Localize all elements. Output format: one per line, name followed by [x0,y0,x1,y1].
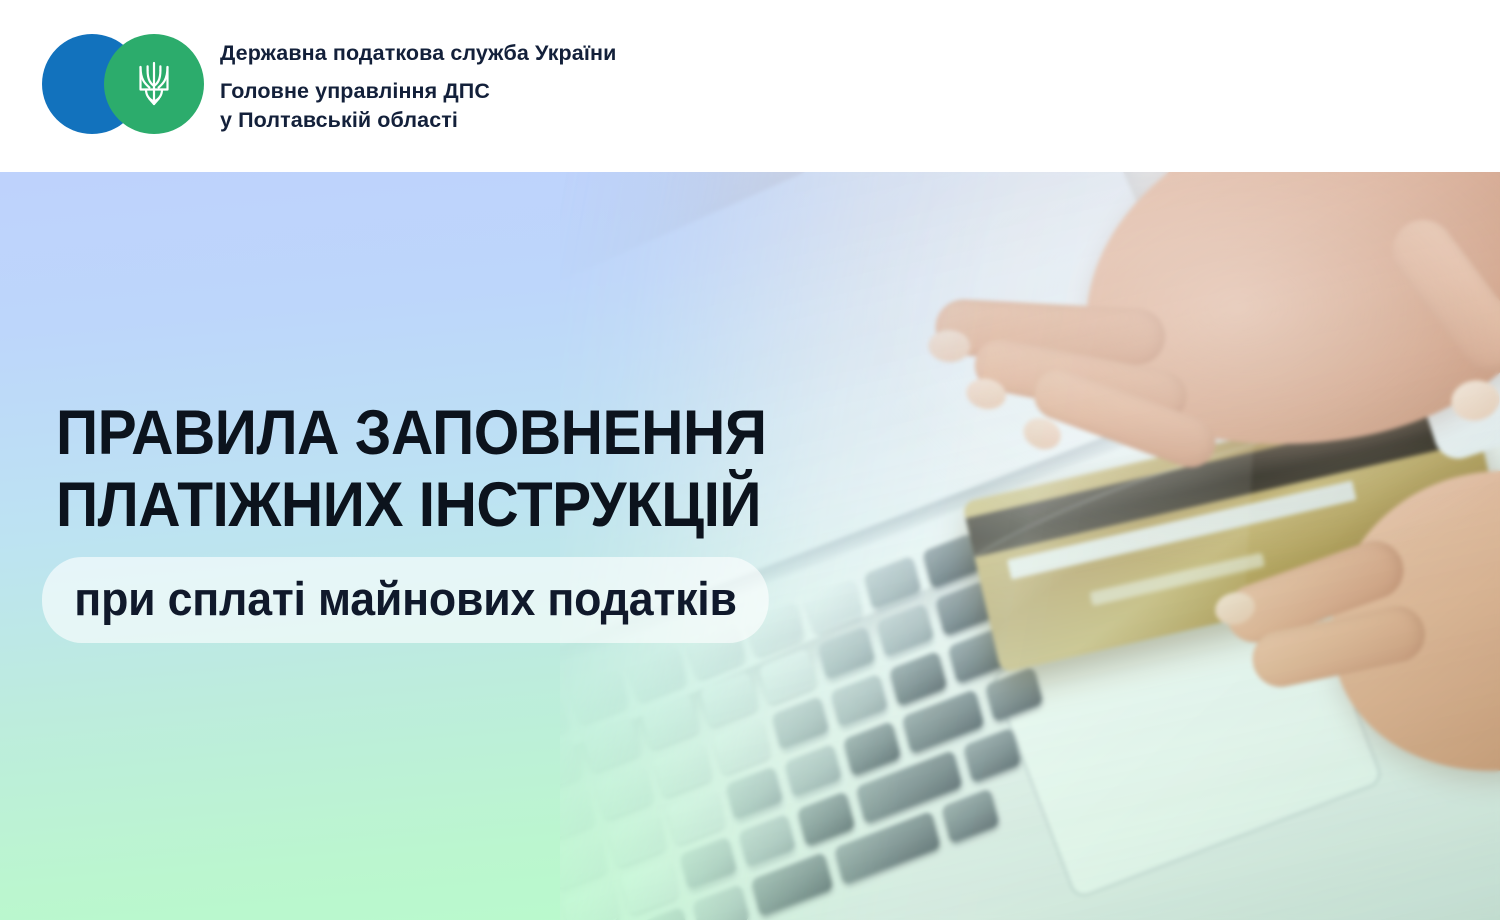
logo-green-circle [104,34,204,134]
brand-header: Державна податкова служба України Головн… [0,0,1500,172]
ukraine-trident-icon [134,58,174,110]
hero-section: ПРАВИЛА ЗАПОВНЕННЯ ПЛАТІЖНИХ ІНСТРУКЦІЙ … [0,172,1500,920]
dps-logo [42,34,204,138]
hero-title-line-1: ПРАВИЛА ЗАПОВНЕННЯ [56,397,837,469]
header-text-block: Державна податкова служба України Головн… [220,38,616,135]
hero-subtitle-pill: при сплаті майнових податків [42,557,769,643]
header-line-agency: Державна податкова служба України [220,38,616,68]
hero-text-block: ПРАВИЛА ЗАПОВНЕННЯ ПЛАТІЖНИХ ІНСТРУКЦІЙ … [56,397,896,643]
hero-title-line-2: ПЛАТІЖНИХ ІНСТРУКЦІЙ [56,469,837,541]
header-line-region: у Полтавській області [220,106,616,135]
header-line-department: Головне управління ДПС [220,77,616,106]
poster-banner: Державна податкова служба України Головн… [0,0,1500,920]
